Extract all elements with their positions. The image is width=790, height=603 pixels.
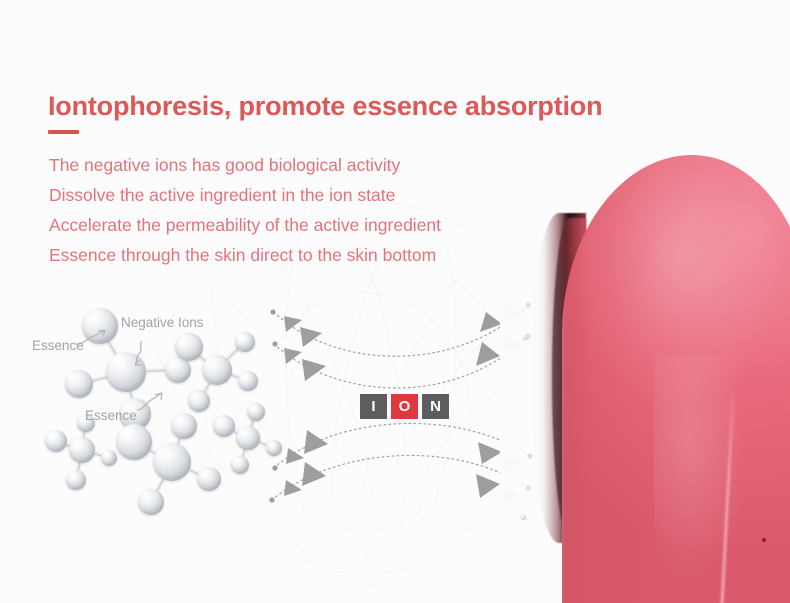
molecule-atom: [65, 370, 93, 398]
device-image: [500, 140, 790, 603]
benefit-list: The negative ions has good biological ac…: [49, 150, 441, 270]
molecule-atom: [235, 332, 255, 352]
particle-speck: [521, 515, 526, 520]
ion-cell-o: O: [391, 394, 418, 419]
device-body: [562, 155, 790, 603]
molecule-atom: [236, 426, 260, 450]
benefit-line: Accelerate the permeability of the activ…: [49, 210, 441, 240]
molecule-atom: [175, 333, 203, 361]
molecule-atom: [188, 390, 210, 412]
molecule-atom: [138, 489, 164, 515]
molecule-atom: [45, 430, 67, 452]
molecule-atom: [202, 355, 232, 385]
particle-speck: [523, 335, 528, 340]
molecule-atom: [197, 467, 221, 491]
benefit-line: Essence through the skin direct to the s…: [49, 240, 441, 270]
molecule-atom: [153, 443, 191, 481]
pointer-arrow-negative-ions: [129, 339, 149, 367]
device-left-fade: [500, 140, 566, 603]
molecule-atom: [238, 371, 258, 391]
promo-banner: Iontophoresis, promote essence absorptio…: [0, 0, 790, 603]
molecule-atom: [69, 437, 95, 463]
molecule-label-negative-ions: Negative Ions: [121, 315, 204, 330]
ion-badge: I O N: [360, 394, 449, 419]
device-indicator-dot: [762, 538, 766, 542]
molecule-atom: [66, 470, 86, 490]
title-underline: [48, 130, 79, 134]
pointer-arrow-essence-bottom: [133, 390, 165, 412]
page-title: Iontophoresis, promote essence absorptio…: [48, 91, 602, 122]
molecule-label-essence-bottom: Essence: [85, 408, 137, 423]
molecule-atom: [116, 424, 152, 460]
pointer-arrow-essence-top: [74, 326, 108, 348]
molecule-atom: [171, 413, 197, 439]
molecule-atom: [231, 456, 249, 474]
ion-cell-n: N: [422, 394, 449, 419]
molecule-atom: [213, 415, 235, 437]
ion-cell-i: I: [360, 394, 387, 419]
molecule-atom: [101, 450, 117, 466]
benefit-line: The negative ions has good biological ac…: [49, 150, 441, 180]
benefit-line: Dissolve the active ingredient in the io…: [49, 180, 441, 210]
